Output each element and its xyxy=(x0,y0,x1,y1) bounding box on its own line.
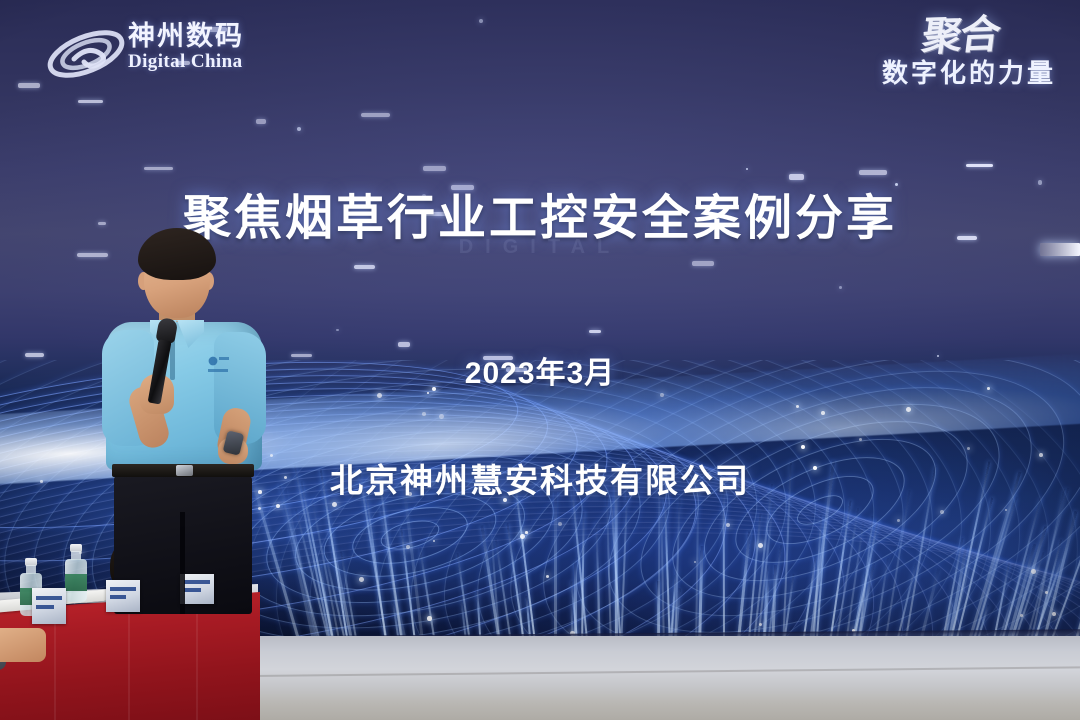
right-edge-light-bar xyxy=(1040,243,1080,256)
water-bottle xyxy=(65,544,87,602)
name-card xyxy=(180,574,214,604)
event-calligraphy: 聚合 xyxy=(803,15,1001,61)
name-card xyxy=(106,580,140,612)
digital-china-logo: 神州数码 Digital China xyxy=(44,18,274,88)
attendee-arm xyxy=(0,628,46,662)
brand-name-en: Digital China xyxy=(128,51,278,73)
tablecloth-fold xyxy=(128,600,130,720)
tablecloth-fold xyxy=(196,600,198,720)
speaker-belt-buckle xyxy=(176,465,193,476)
digital-china-swirl-mark xyxy=(44,26,128,82)
brand-name-cn: 神州数码 xyxy=(128,22,278,50)
digital-china-wordmark: 神州数码 Digital China xyxy=(128,22,278,73)
chest-logo-icon xyxy=(206,354,232,374)
speaker-hair xyxy=(138,228,216,280)
speaker-trouser-split xyxy=(180,512,185,614)
conference-stage-photo: 神州数码 Digital China 聚合 数字化的力量 聚焦烟草行业工控安全案… xyxy=(0,0,1080,720)
name-card xyxy=(32,588,66,624)
event-logo: 聚合 数字化的力量 xyxy=(806,18,1056,112)
